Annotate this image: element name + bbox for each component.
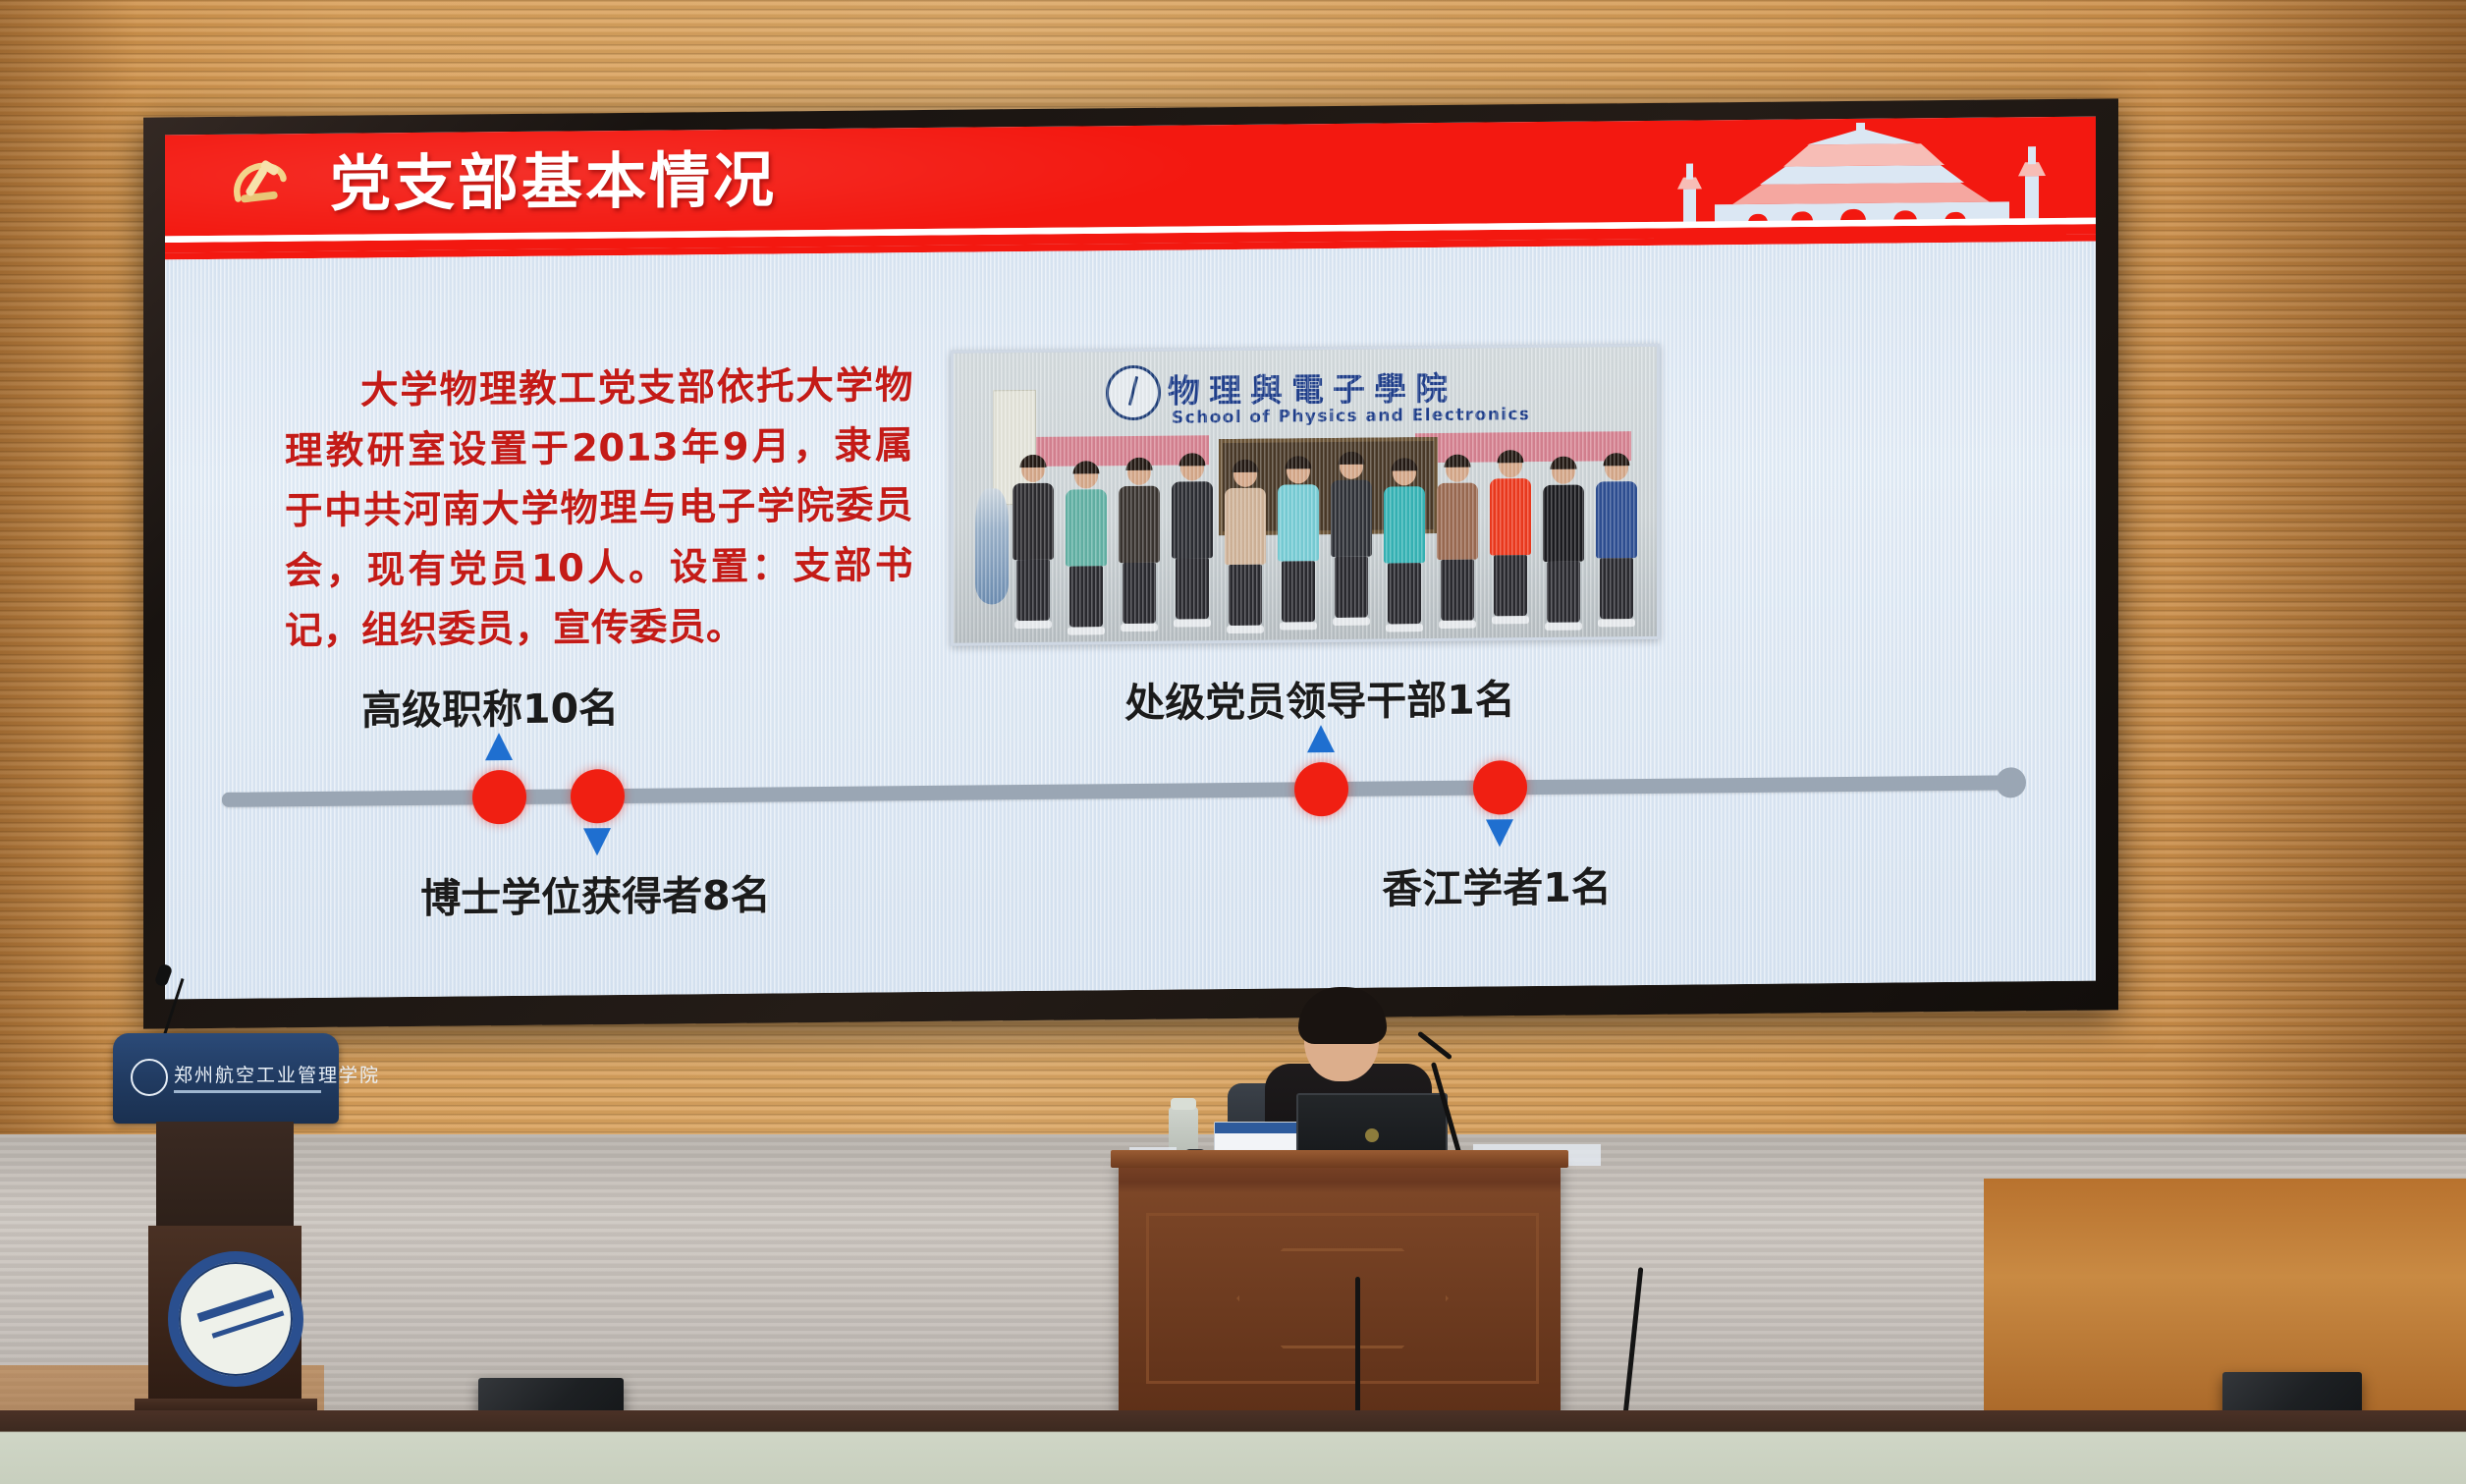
timeline-marker-dot[interactable] [472, 770, 526, 825]
timeline-marker-label: 高级职称10名 [361, 675, 619, 737]
laptop-logo-icon [1365, 1128, 1379, 1142]
wall-shadow-right [2171, 0, 2466, 1154]
slide-paragraph: 大学物理教工党支部依托大学物理教研室设置于2013年9月，隶属于中共河南大学物理… [285, 356, 913, 661]
podium-logo-icon [131, 1059, 168, 1096]
timeline-marker-arrow-icon [583, 828, 611, 855]
party-hammer-sickle-icon [224, 147, 295, 219]
podium-top-plaque: 郑州航空工业管理学院 [113, 1033, 339, 1124]
slide-body: 大学物理教工党支部依托大学物理教研室设置于2013年9月，隶属于中共河南大学物理… [165, 242, 2096, 1000]
nameplate-header-strip [1215, 1123, 1303, 1133]
timeline-marker-label: 香江学者1名 [1382, 853, 1612, 914]
slide-header-band: 党支部基本情况 [165, 117, 2096, 237]
stage-front-edge [0, 1410, 2466, 1484]
podium-plaque-text: 郑州航空工业管理学院 [174, 1061, 380, 1087]
group-photo: 物理與電子學院 School of Physics and Electronic… [951, 344, 1660, 646]
statistics-timeline: 高级职称10名博士学位获得者8名处级党员领导干部1名香江学者1名 [204, 688, 2060, 903]
timeline-marker-dot[interactable] [1473, 760, 1527, 815]
slide-title: 党支部基本情况 [330, 138, 777, 225]
podium-neck [156, 1122, 294, 1228]
timeline-marker-arrow-icon [1486, 819, 1513, 847]
timeline-marker-dot[interactable] [571, 769, 625, 824]
thermos-cap-icon [1171, 1098, 1196, 1110]
timeline-end-cap [1996, 767, 2026, 797]
wall-shadow-left [0, 0, 137, 1154]
timeline-marker-label: 博士学位获得者8名 [420, 862, 771, 924]
photo-scanline-overlay [954, 347, 1657, 643]
timeline-marker-dot[interactable] [1294, 762, 1348, 817]
projection-screen[interactable]: 党支部基本情况 [165, 117, 2096, 1000]
timeline-marker-label: 处级党员领导干部1名 [1124, 666, 1515, 729]
timeline-marker-arrow-icon [485, 733, 513, 760]
lecture-hall-scene: 党支部基本情况 [0, 0, 2466, 1484]
presenter-desk [1119, 1162, 1561, 1417]
lectern-podium: 郑州航空工业管理学院 [113, 1033, 339, 1416]
desk-power-cable [1355, 1277, 1360, 1424]
university-aircraft-seal-icon [168, 1251, 303, 1387]
desk-top-edge [1111, 1150, 1568, 1168]
podium-plaque-underline [174, 1090, 321, 1093]
timeline-marker-arrow-icon [1307, 725, 1335, 752]
